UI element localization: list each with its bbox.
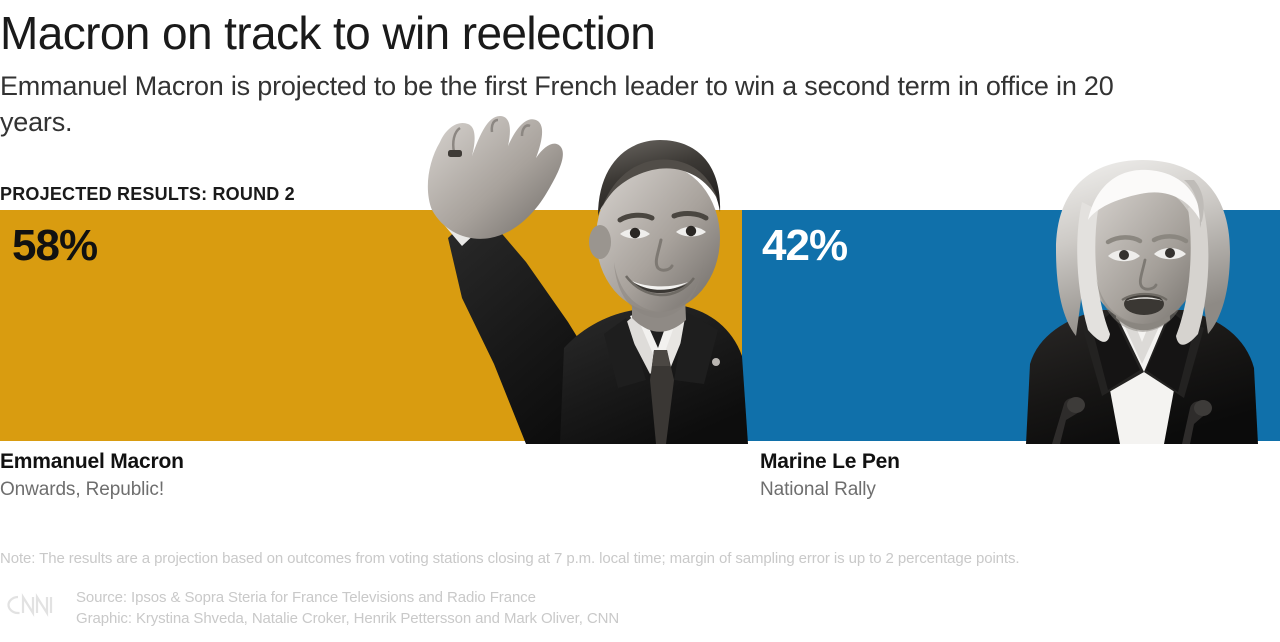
bar-value-macron: 58% (12, 224, 97, 268)
bar-segment-macron: 58% (0, 210, 742, 441)
credit-source: Source: Ipsos & Sopra Steria for France … (76, 587, 619, 608)
bar-segment-lepen: 42% (742, 210, 1280, 441)
infographic-canvas: Macron on track to win reelection Emmanu… (0, 0, 1280, 642)
credit-graphic: Graphic: Krystina Shveda, Natalie Croker… (76, 608, 619, 629)
candidate-caption-lepen: Marine Le Pen National Rally (760, 449, 900, 503)
chart-label: PROJECTED RESULTS: ROUND 2 (0, 184, 295, 205)
methodology-note: Note: The results are a projection based… (0, 549, 1270, 569)
candidate-party-lepen: National Rally (760, 477, 900, 503)
cnn-logo-icon (4, 592, 58, 618)
candidate-party-macron: Onwards, Republic! (0, 477, 184, 503)
page-subtitle: Emmanuel Macron is projected to be the f… (0, 68, 1190, 140)
candidate-name-macron: Emmanuel Macron (0, 449, 184, 475)
page-title: Macron on track to win reelection (0, 4, 1160, 62)
bar-value-lepen: 42% (762, 224, 847, 268)
credits-block: Source: Ipsos & Sopra Steria for France … (76, 587, 619, 629)
candidate-caption-macron: Emmanuel Macron Onwards, Republic! (0, 449, 184, 503)
results-bar-chart: 58% 42% (0, 210, 1280, 441)
candidate-name-lepen: Marine Le Pen (760, 449, 900, 475)
